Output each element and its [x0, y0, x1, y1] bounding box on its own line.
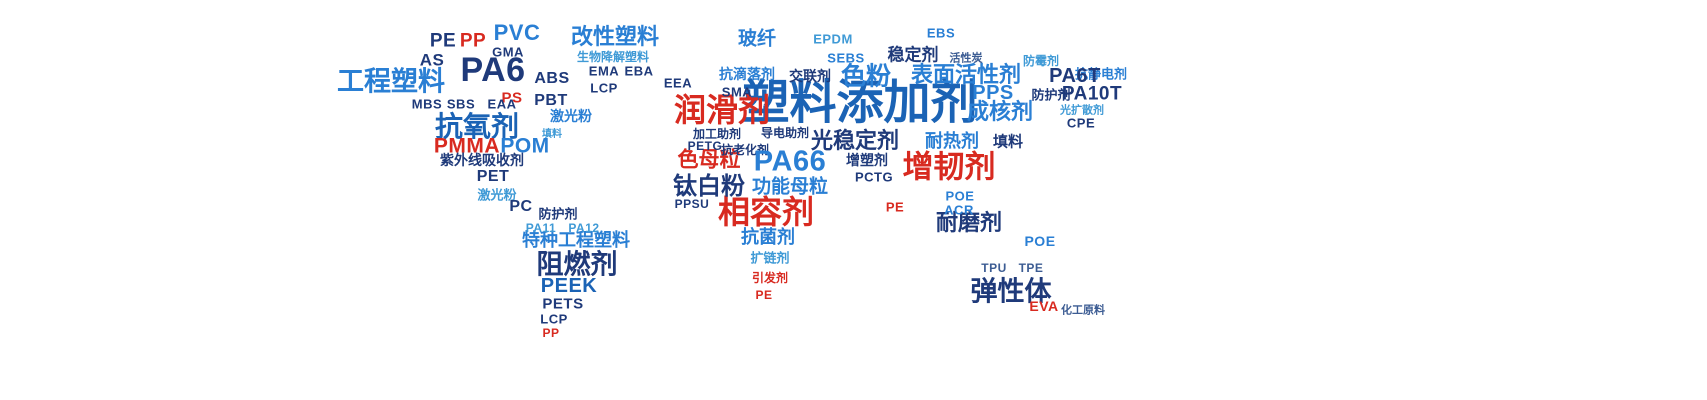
- cloud-word[interactable]: 引发剂: [752, 272, 788, 284]
- cloud-word[interactable]: EBA: [625, 65, 654, 78]
- cloud-word[interactable]: PE: [755, 289, 772, 301]
- cloud-word[interactable]: 增塑剂: [846, 154, 888, 168]
- cloud-word[interactable]: 钛白粉: [673, 174, 745, 198]
- cloud-word[interactable]: 生物降解塑料: [577, 51, 649, 63]
- cloud-word[interactable]: PC: [509, 199, 532, 215]
- cloud-word[interactable]: ACR: [944, 204, 974, 217]
- cloud-word[interactable]: 光扩散剂: [1060, 105, 1104, 116]
- cloud-word[interactable]: EAA: [488, 98, 517, 111]
- cloud-word[interactable]: AS: [420, 52, 445, 69]
- cloud-word[interactable]: 工程塑料: [337, 69, 445, 96]
- cloud-word[interactable]: TPE: [1019, 262, 1044, 274]
- cloud-word[interactable]: 填料: [993, 135, 1023, 150]
- cloud-word[interactable]: PA11: [526, 222, 556, 234]
- cloud-word[interactable]: TPU: [981, 262, 1007, 274]
- cloud-word[interactable]: 功能母粒: [752, 178, 828, 197]
- cloud-word[interactable]: POE: [946, 190, 975, 203]
- cloud-word[interactable]: 导电助剂: [761, 127, 809, 139]
- cloud-word[interactable]: GMA: [492, 46, 524, 59]
- cloud-word[interactable]: SMA: [722, 86, 752, 99]
- cloud-word[interactable]: PET: [477, 169, 510, 185]
- cloud-word[interactable]: PPSU: [675, 198, 710, 210]
- cloud-word[interactable]: PMMA: [434, 136, 500, 157]
- cloud-word[interactable]: PPS: [972, 83, 1014, 103]
- cloud-word[interactable]: PP: [460, 32, 486, 51]
- cloud-word[interactable]: EEA: [664, 77, 692, 90]
- cloud-word[interactable]: PE: [886, 201, 904, 214]
- cloud-word[interactable]: PVC: [494, 22, 541, 44]
- wordcloud-canvas: 塑料添加剂润滑剂相容剂增韧剂工程塑料抗氧剂阻燃剂弹性体表面活性剂光稳定剂色粉钛白…: [0, 0, 1707, 400]
- cloud-word[interactable]: 相容剂: [718, 196, 814, 228]
- cloud-word[interactable]: PETS: [542, 297, 583, 312]
- cloud-word[interactable]: EBS: [927, 27, 955, 40]
- cloud-word[interactable]: POM: [500, 136, 549, 157]
- cloud-word[interactable]: 抗菌剂: [741, 229, 795, 247]
- cloud-word[interactable]: PA10T: [1062, 85, 1122, 104]
- cloud-word[interactable]: 稳定剂: [888, 48, 939, 65]
- cloud-word[interactable]: 增韧剂: [903, 153, 996, 184]
- cloud-word[interactable]: 扩链剂: [750, 253, 789, 266]
- cloud-word[interactable]: PBT: [534, 93, 568, 109]
- cloud-word[interactable]: EPDM: [813, 33, 853, 46]
- cloud-word[interactable]: MBS: [412, 98, 442, 111]
- cloud-word[interactable]: PCTG: [855, 171, 893, 184]
- cloud-word[interactable]: 色粉: [841, 64, 891, 89]
- cloud-word[interactable]: PETG: [688, 140, 723, 152]
- cloud-word[interactable]: EMA: [589, 65, 619, 78]
- cloud-word[interactable]: 玻纤: [738, 30, 776, 49]
- cloud-word[interactable]: ABS: [534, 71, 569, 87]
- cloud-word[interactable]: 激光粉: [550, 110, 592, 124]
- cloud-word[interactable]: SBS: [447, 98, 475, 111]
- cloud-word[interactable]: 成核剂: [967, 102, 1033, 124]
- cloud-word[interactable]: 活性炭: [950, 53, 983, 64]
- cloud-word[interactable]: 化工原料: [1061, 305, 1105, 316]
- cloud-word[interactable]: PA66: [754, 148, 826, 177]
- cloud-word[interactable]: SEBS: [827, 52, 864, 65]
- cloud-word[interactable]: 耐热剂: [925, 133, 979, 151]
- cloud-word[interactable]: PE: [430, 32, 456, 51]
- cloud-word[interactable]: 改性塑料: [571, 27, 659, 49]
- cloud-word[interactable]: PA12: [568, 222, 599, 234]
- cloud-word[interactable]: 交联剂: [789, 70, 831, 84]
- cloud-word[interactable]: LCP: [590, 82, 618, 95]
- cloud-word[interactable]: CPE: [1067, 117, 1095, 130]
- cloud-word[interactable]: 抗滴落剂: [719, 68, 775, 82]
- cloud-word[interactable]: PP: [542, 327, 559, 339]
- cloud-word[interactable]: LCP: [540, 313, 568, 326]
- cloud-word[interactable]: EVA: [1029, 299, 1058, 313]
- cloud-word[interactable]: 防护剂: [538, 209, 577, 222]
- cloud-word[interactable]: POE: [1024, 234, 1055, 248]
- cloud-word[interactable]: PEEK: [541, 276, 597, 296]
